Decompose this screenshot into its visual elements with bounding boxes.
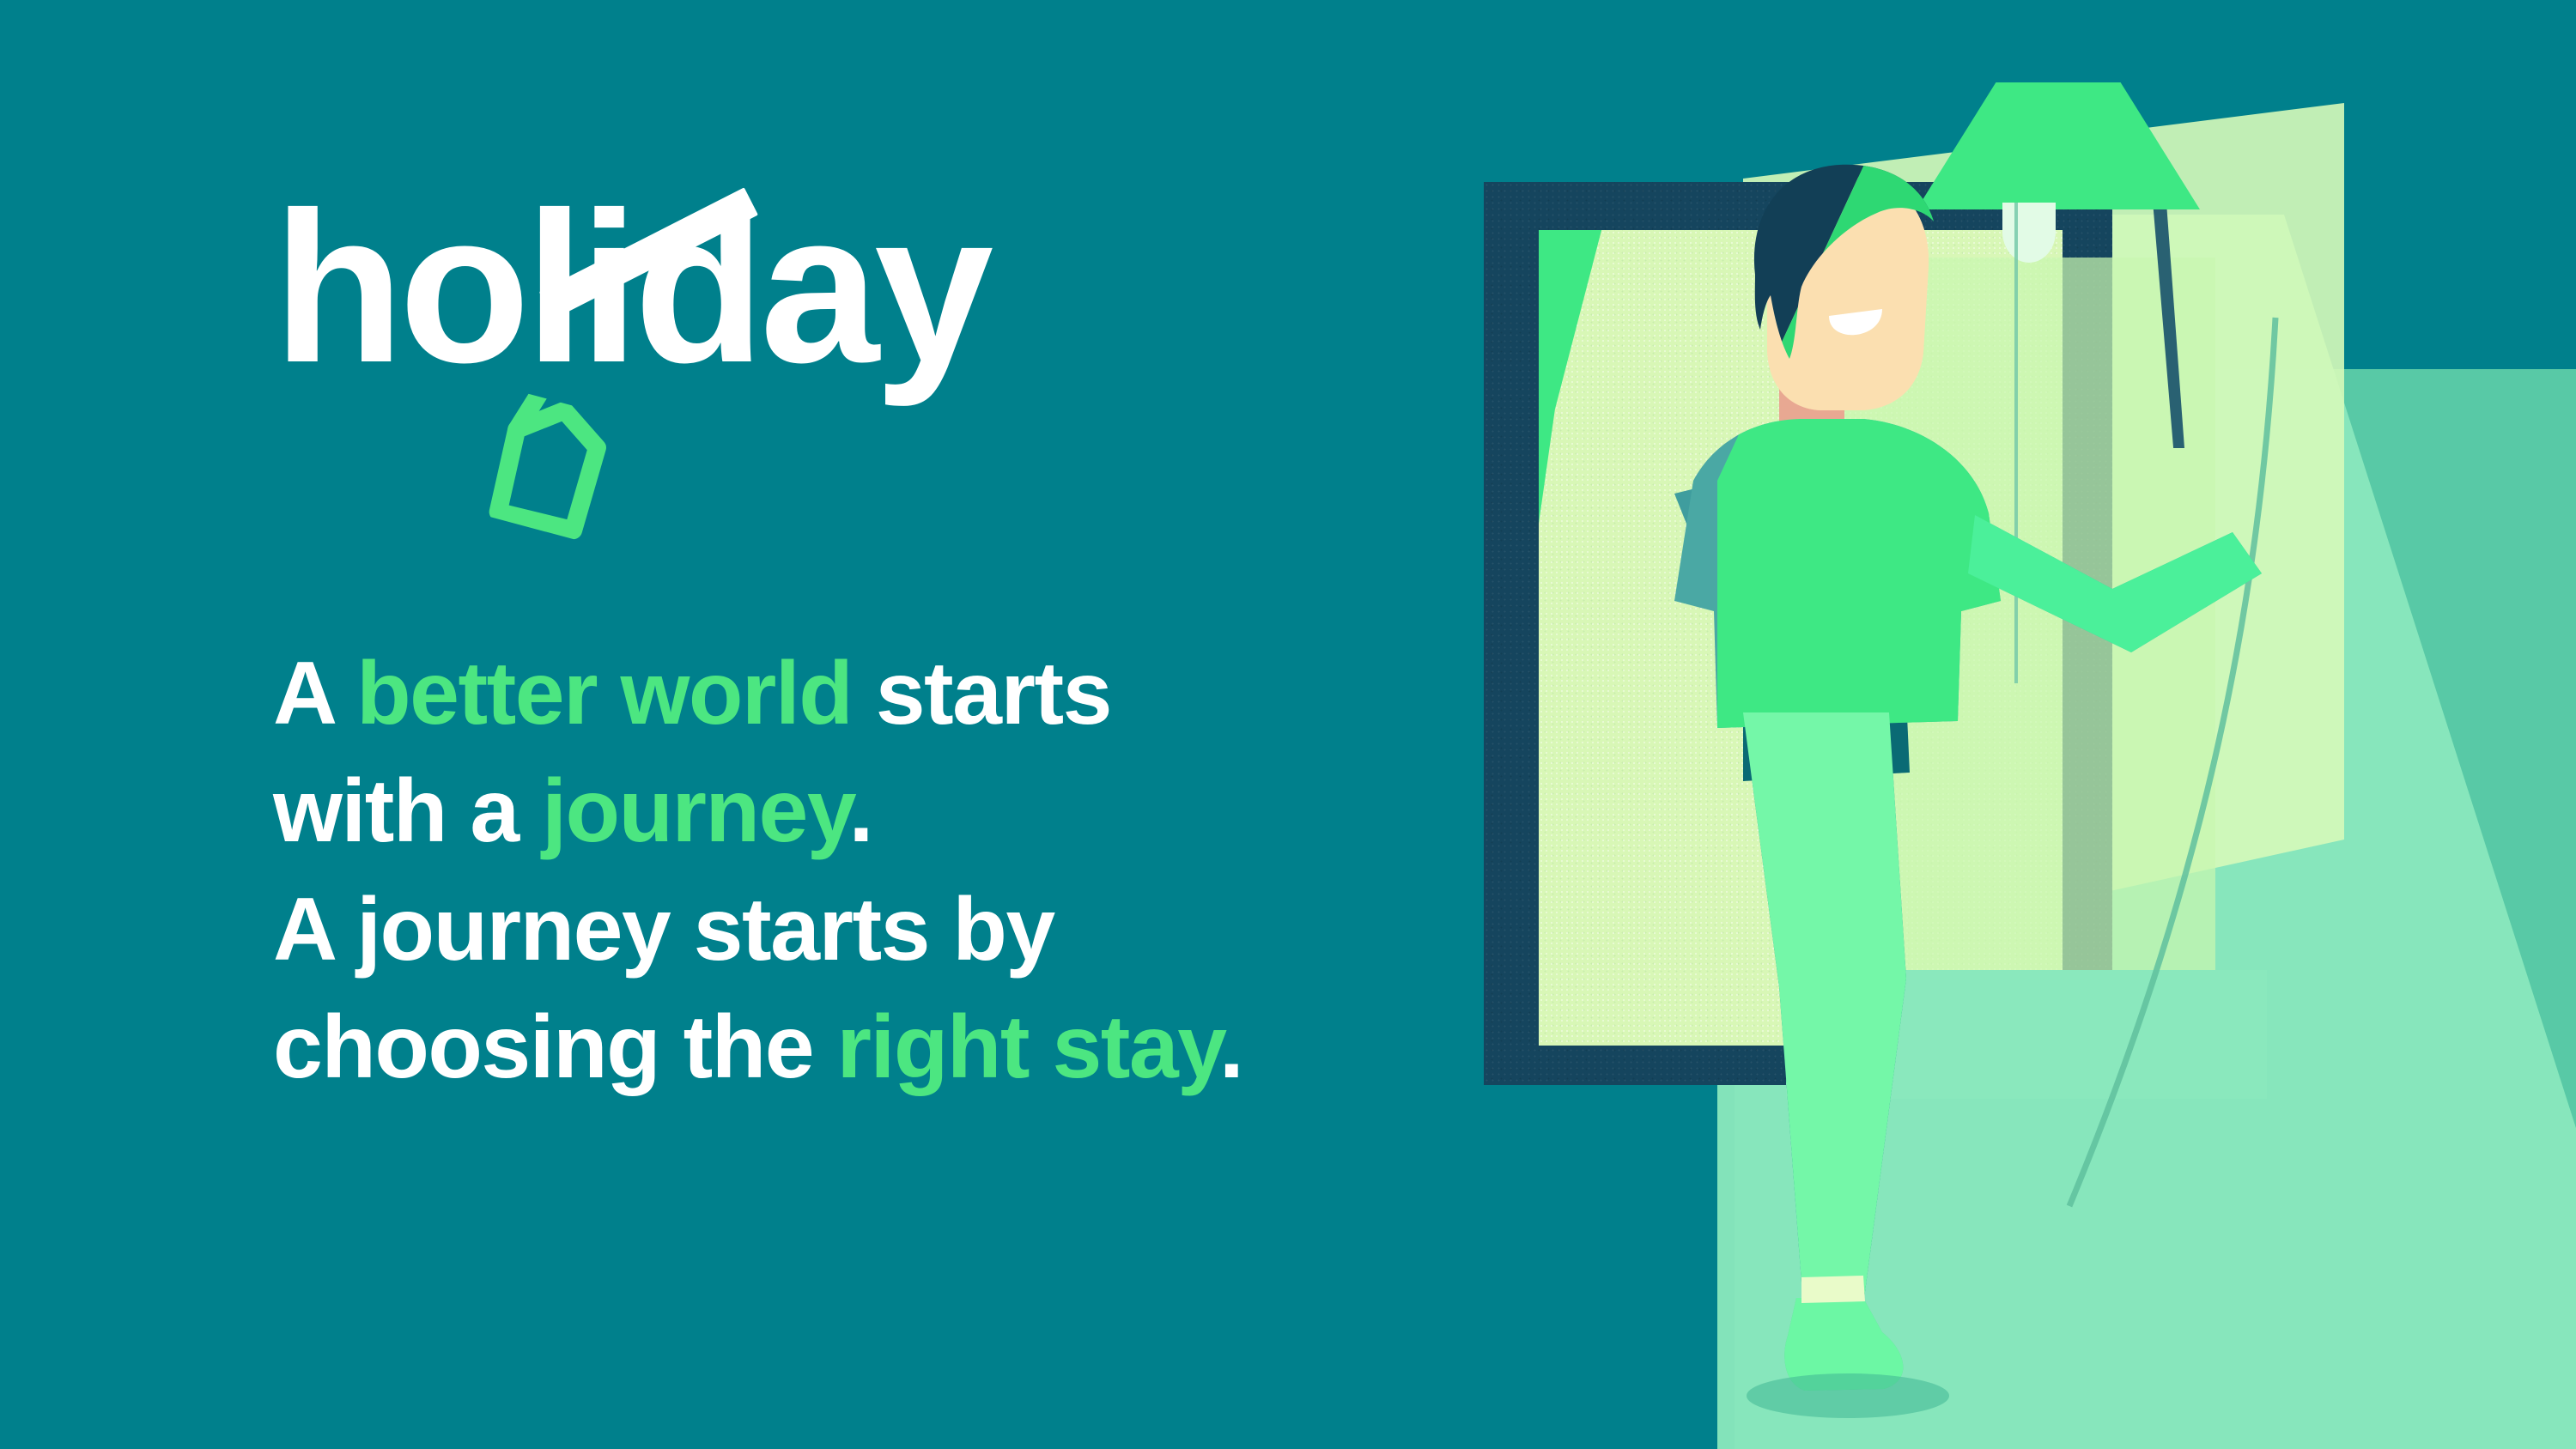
- person-ground-shadow: [1747, 1373, 1949, 1418]
- logo-wordmark: holiday: [273, 180, 988, 395]
- promo-banner: holiday A better world starts with a jou…: [0, 0, 2576, 1449]
- tagline-seg: A: [273, 644, 356, 743]
- brand-logo[interactable]: holiday: [273, 206, 1175, 515]
- tagline-seg: choosing the: [273, 997, 837, 1097]
- brand-and-tagline-block: holiday A better world starts with a jou…: [273, 206, 1518, 515]
- tagline-line-4: choosing the right stay.: [273, 989, 1242, 1106]
- tagline-seg: .: [849, 761, 872, 861]
- person-illustration: [1460, 0, 2576, 1449]
- tagline-line-3: A journey starts by: [273, 871, 1242, 989]
- tagline-line-2: with a journey.: [273, 753, 1242, 870]
- tagline-seg-highlight: journey: [542, 761, 848, 861]
- tagline-seg: A journey starts by: [273, 880, 1054, 979]
- tagline-seg: with a: [273, 761, 542, 861]
- person-lit-overlay: [1674, 165, 2262, 1391]
- hero-illustration: [1460, 0, 2576, 1449]
- tagline: A better world starts with a journey. A …: [273, 635, 1242, 1106]
- tagline-seg-highlight: right stay: [837, 997, 1219, 1097]
- tagline-seg-highlight: better world: [356, 644, 852, 743]
- luggage-tag-icon: [480, 390, 619, 543]
- tagline-seg: starts: [852, 644, 1111, 743]
- tagline-seg: .: [1219, 997, 1242, 1097]
- tagline-line-1: A better world starts: [273, 635, 1242, 753]
